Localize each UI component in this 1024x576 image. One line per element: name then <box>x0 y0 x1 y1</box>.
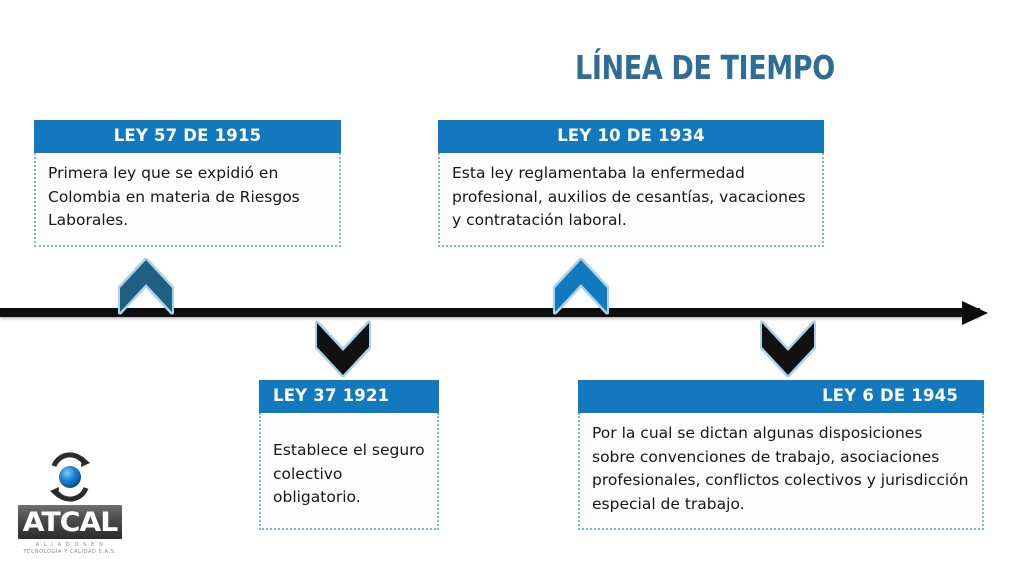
atcal-wordmark-text: ATCAL <box>15 507 124 538</box>
card-header-ley-37-1921: LEY 37 1921 <box>259 380 439 413</box>
card-body-ley-10-de-1934: Esta ley reglamentaba la enfermedad prof… <box>438 153 824 247</box>
chevron-down-icon[interactable] <box>760 315 816 377</box>
card-header-ley-57-de-1915: LEY 57 DE 1915 <box>34 120 341 153</box>
timeline-card-ley-37-1921[interactable]: LEY 37 1921 Establece el seguro colectiv… <box>259 380 439 530</box>
card-header-ley-6-de-1945: LEY 6 DE 1945 <box>578 380 984 413</box>
timeline-card-ley-6-de-1945[interactable]: LEY 6 DE 1945 Por la cual se dictan algu… <box>578 380 984 530</box>
atcal-logo: ATCAL A L I A D O S E N TECNOLOGÍA Y CAL… <box>18 452 122 570</box>
chevron-down-icon[interactable] <box>315 315 371 377</box>
atcal-globe-icon <box>42 452 98 502</box>
chevron-up-icon[interactable] <box>553 258 609 320</box>
atcal-tagline-line-1: A L I A D O S E N <box>18 542 122 548</box>
arrow-right-icon <box>962 301 988 325</box>
card-body-ley-6-de-1945: Por la cual se dictan algunas disposicio… <box>578 413 984 530</box>
chevron-up-icon[interactable] <box>118 258 174 320</box>
atcal-tagline-line-2: TECNOLOGÍA Y CALIDAD S.A.S. <box>18 549 122 555</box>
card-body-ley-37-1921: Establece el seguro colectivo obligatori… <box>259 413 439 530</box>
timeline-card-ley-57-de-1915[interactable]: LEY 57 DE 1915 Primera ley que se expidi… <box>34 120 341 247</box>
atcal-wordmark: ATCAL <box>18 505 122 539</box>
page-title: LÍNEA DE TIEMPO <box>575 48 837 87</box>
timeline-card-ley-10-de-1934[interactable]: LEY 10 DE 1934 Esta ley reglamentaba la … <box>438 120 824 247</box>
card-body-ley-57-de-1915: Primera ley que se expidió en Colombia e… <box>34 153 341 247</box>
card-header-ley-10-de-1934: LEY 10 DE 1934 <box>438 120 824 153</box>
timeline-slide: LÍNEA DE TIEMPO LEY 57 DE 1915 Primera <box>0 0 1024 576</box>
